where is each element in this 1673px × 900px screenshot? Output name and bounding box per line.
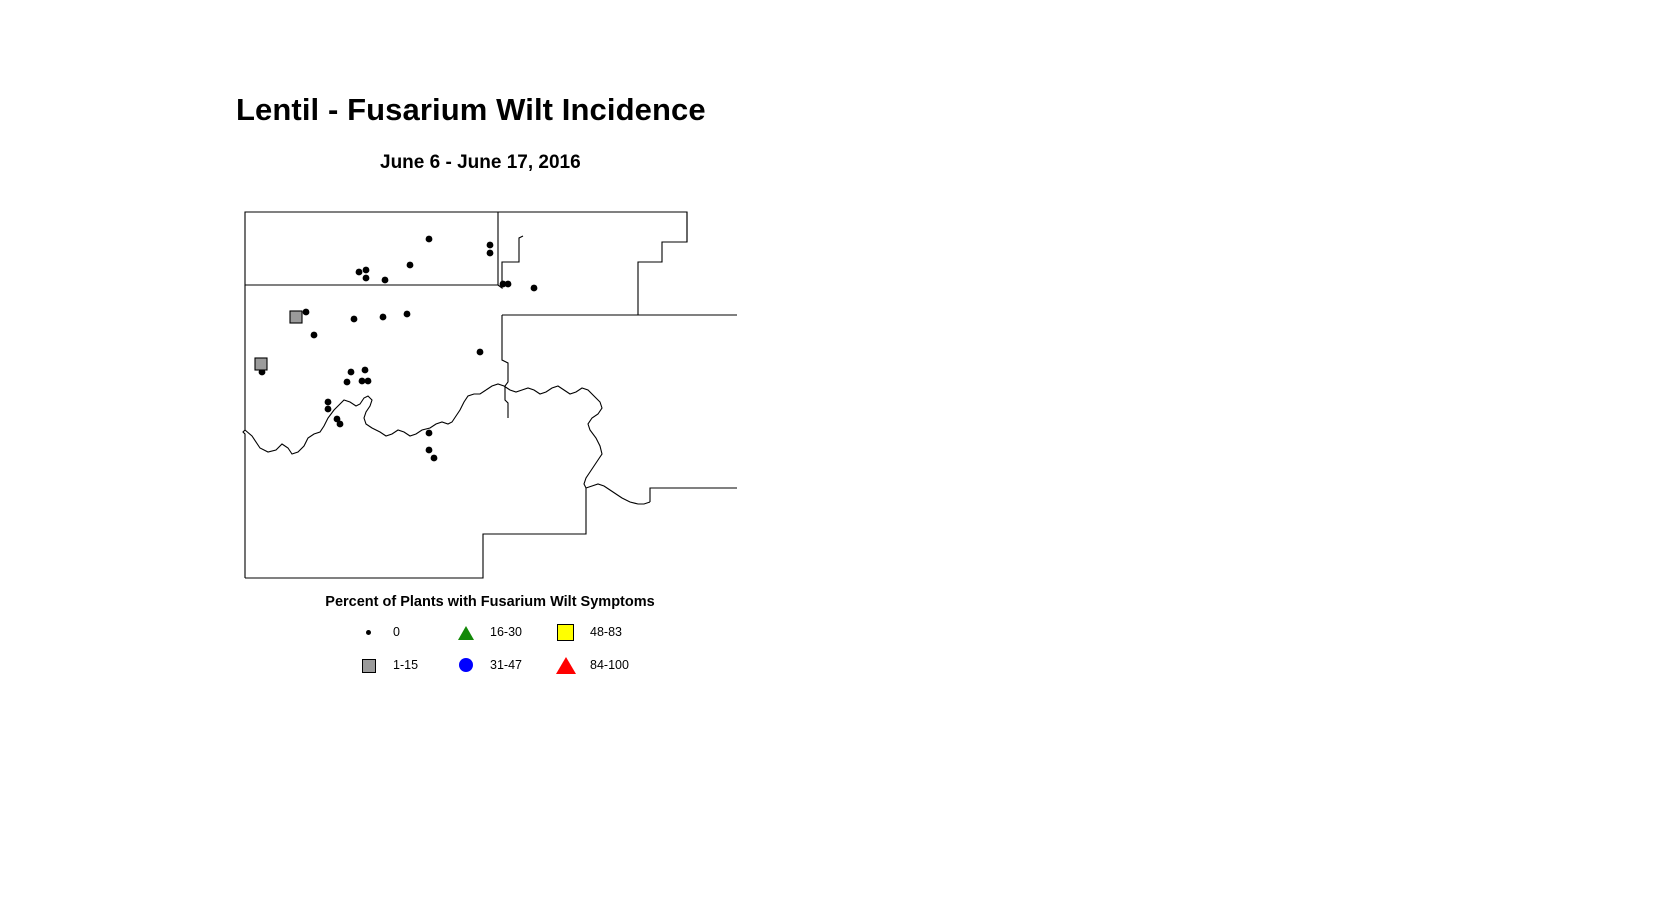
data-point xyxy=(431,455,438,462)
data-point xyxy=(365,378,372,385)
legend-item-84-100: 84-100 xyxy=(555,651,629,679)
data-point xyxy=(426,447,433,454)
legend: Percent of Plants with Fusarium Wilt Sym… xyxy=(240,588,740,683)
boundary-southeast-step xyxy=(650,488,737,502)
boundary-west-edge xyxy=(243,285,245,578)
boundary-east-vertical xyxy=(502,315,508,418)
county-boundaries xyxy=(243,212,737,578)
data-point xyxy=(351,316,358,323)
legend-row: 0 16-30 48-83 xyxy=(240,618,740,646)
data-point xyxy=(363,275,370,282)
data-point xyxy=(325,406,332,413)
data-points xyxy=(255,236,537,462)
data-point xyxy=(477,349,484,356)
legend-item-label: 31-47 xyxy=(490,658,522,672)
data-point xyxy=(426,236,433,243)
legend-item-16-30: 16-30 xyxy=(455,618,522,646)
figure-container: Lentil - Fusarium Wilt Incidence June 6 … xyxy=(0,0,1673,900)
data-point-square xyxy=(290,311,302,323)
data-point xyxy=(359,378,366,385)
data-point xyxy=(348,369,355,376)
data-point xyxy=(362,367,369,374)
page-subtitle: June 6 - June 17, 2016 xyxy=(380,150,581,176)
legend-gray-square-icon xyxy=(358,654,380,676)
data-point xyxy=(487,250,494,257)
data-point xyxy=(531,285,538,292)
boundary-river-east xyxy=(486,384,650,504)
boundary-river-west xyxy=(245,390,486,454)
boundary-northeast-block xyxy=(498,212,687,315)
legend-title: Percent of Plants with Fusarium Wilt Sym… xyxy=(240,593,740,611)
legend-item-0: 0 xyxy=(358,618,400,646)
boundary-east-county xyxy=(498,236,523,288)
data-point xyxy=(344,379,351,386)
page-title: Lentil - Fusarium Wilt Incidence xyxy=(236,90,706,130)
boundary-south-block xyxy=(245,488,586,578)
legend-item-1-15: 1-15 xyxy=(358,651,418,679)
county-map-svg xyxy=(240,200,740,590)
data-point-square xyxy=(255,358,267,370)
legend-item-label: 1-15 xyxy=(393,658,418,672)
legend-item-31-47: 31-47 xyxy=(455,651,522,679)
data-point xyxy=(487,242,494,249)
legend-item-label: 16-30 xyxy=(490,625,522,639)
data-point xyxy=(426,430,433,437)
data-point xyxy=(363,267,370,274)
legend-dot-icon xyxy=(358,621,380,643)
legend-item-label: 0 xyxy=(393,625,400,639)
boundary-northwest-block xyxy=(245,212,498,285)
data-point xyxy=(407,262,414,269)
legend-yellow-square-icon xyxy=(555,621,577,643)
legend-red-triangle-icon xyxy=(555,654,577,676)
legend-item-label: 48-83 xyxy=(590,625,622,639)
data-point xyxy=(311,332,318,339)
data-point xyxy=(505,281,512,288)
legend-blue-circle-icon xyxy=(455,654,477,676)
data-point xyxy=(380,314,387,321)
legend-item-48-83: 48-83 xyxy=(555,618,622,646)
data-point xyxy=(303,309,310,316)
data-point xyxy=(337,421,344,428)
legend-green-triangle-icon xyxy=(455,621,477,643)
legend-item-label: 84-100 xyxy=(590,658,629,672)
data-point xyxy=(404,311,411,318)
data-point xyxy=(356,269,363,276)
map-plot-area xyxy=(240,200,740,590)
legend-row: 1-15 31-47 84-100 xyxy=(240,651,740,679)
data-point xyxy=(382,277,389,284)
data-point xyxy=(325,399,332,406)
